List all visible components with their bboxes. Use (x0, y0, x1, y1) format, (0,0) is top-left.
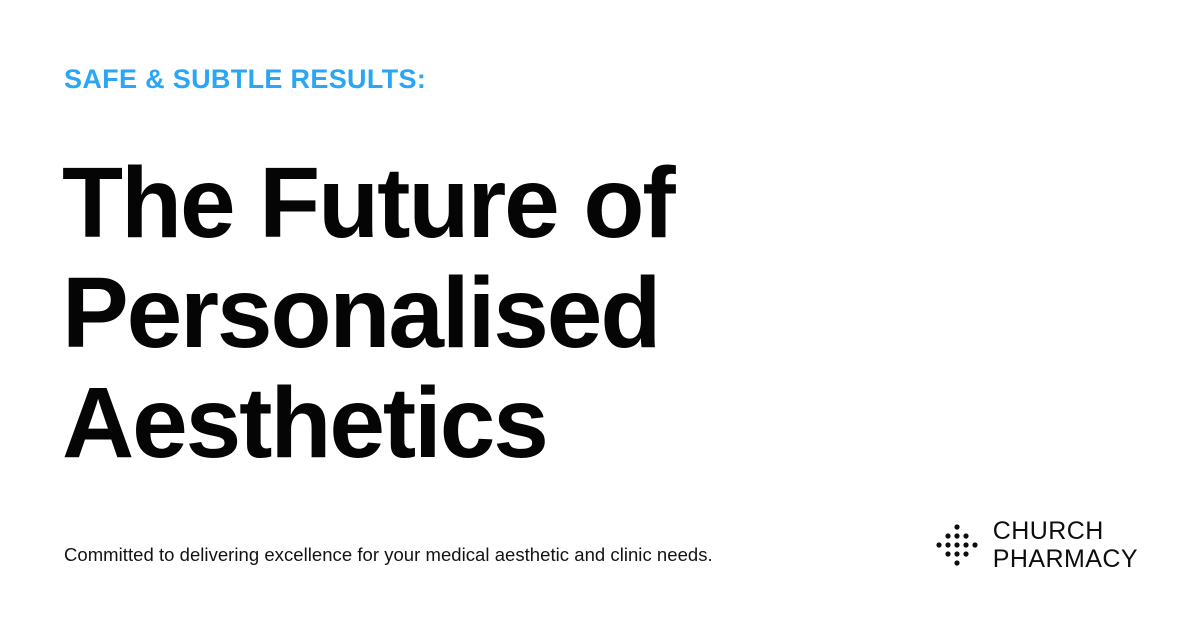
eyebrow-label: SAFE & SUBTLE RESULTS: (64, 64, 426, 95)
subtitle-text: Committed to delivering excellence for y… (64, 543, 713, 568)
brand-logo: CHURCH PHARMACY (935, 518, 1138, 573)
page-title: The Future of Personalised Aesthetics (62, 148, 674, 478)
brand-name-line-2: PHARMACY (993, 546, 1138, 573)
brand-name-line-1: CHURCH (993, 518, 1138, 545)
promo-banner: SAFE & SUBTLE RESULTS: The Future of Per… (0, 0, 1200, 630)
headline-line-1: The Future of (62, 148, 674, 258)
brand-wordmark: CHURCH PHARMACY (993, 518, 1138, 573)
diamond-dot-grid-icon (935, 523, 979, 569)
headline-line-2: Personalised (62, 258, 674, 368)
headline-line-3: Aesthetics (62, 368, 674, 478)
